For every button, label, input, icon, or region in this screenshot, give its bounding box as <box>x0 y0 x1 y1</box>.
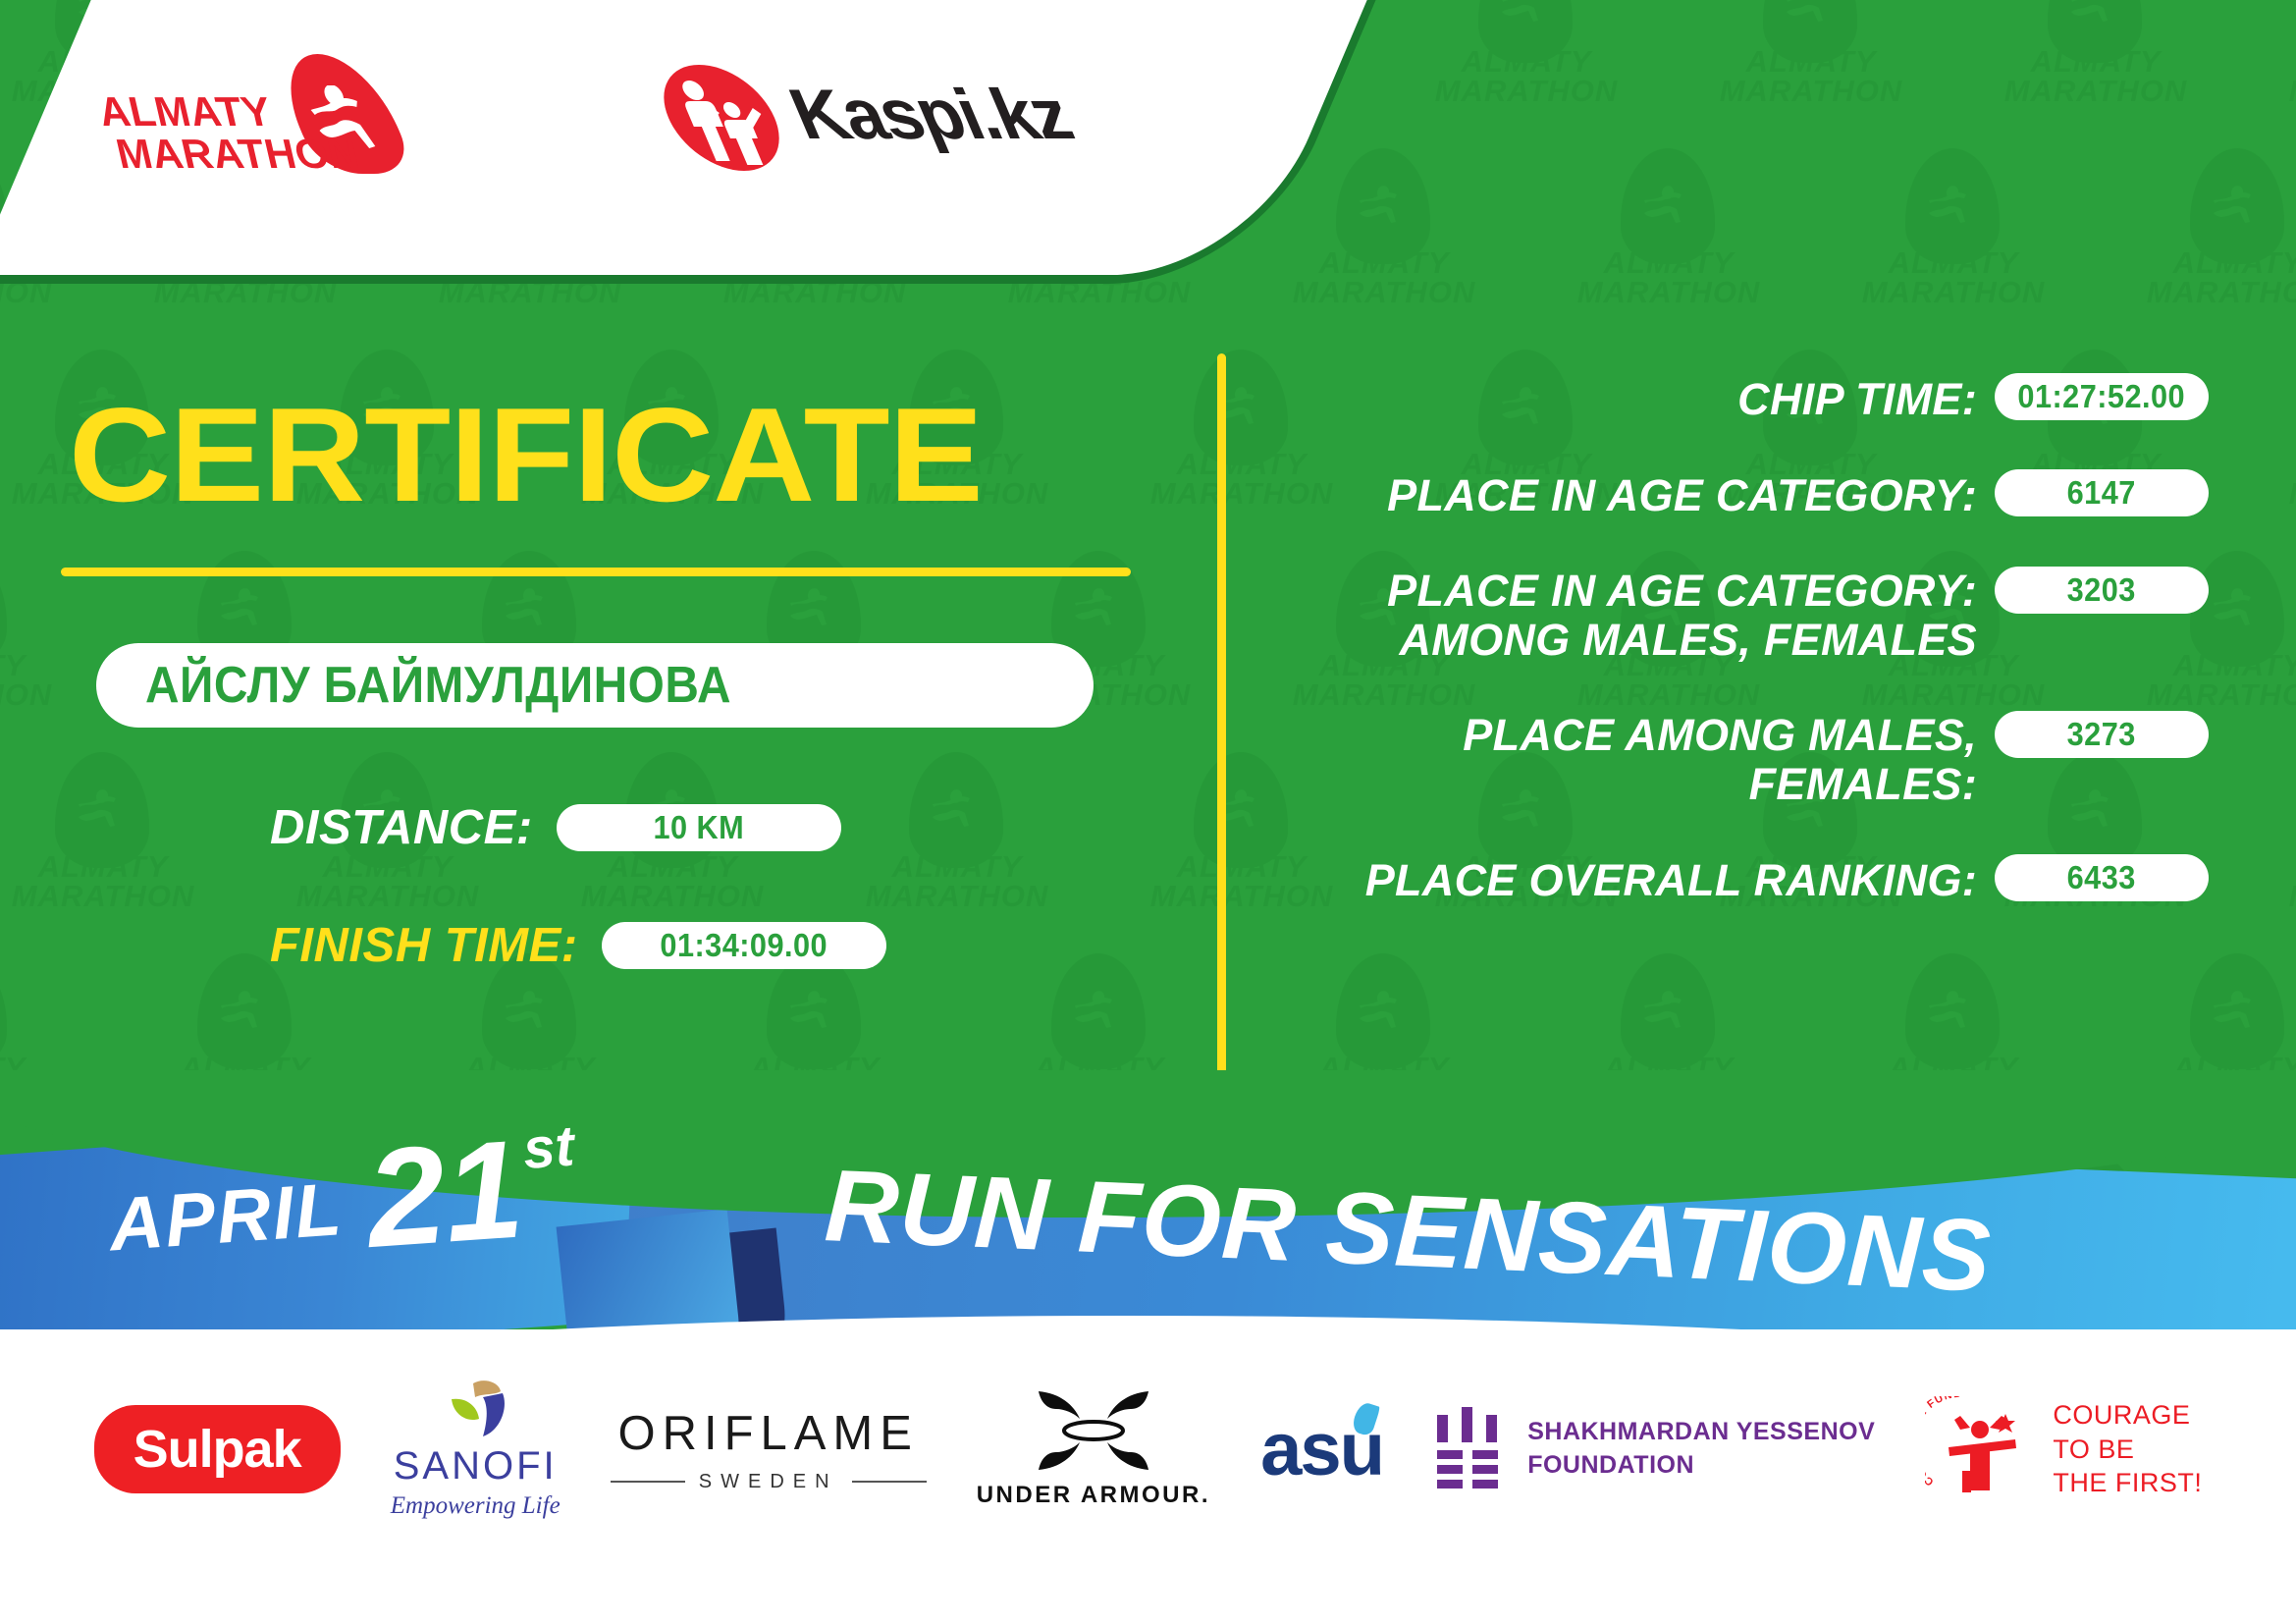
watermark-runner-icon <box>1785 0 1838 24</box>
result-label: PLACE AMONG MALES, FEMALES: <box>1276 711 1995 810</box>
svg-text:CORPORATE FUND: CORPORATE FUND <box>1925 1396 1963 1488</box>
watermark-text: ALMATYMARATHON <box>1384 47 1669 106</box>
kaspi-logo: Kaspi.kz <box>625 57 1125 194</box>
athlete-name-field: АЙСЛУ БАЙМУЛДИНОВА <box>96 643 1094 728</box>
watermark-drop-icon <box>2190 148 2284 264</box>
watermark-runner-icon <box>788 588 841 627</box>
sponsor-under-armour: UNDER ARMOUR. <box>977 1389 1210 1509</box>
finish-time-value: 01:34:09.00 <box>660 927 828 964</box>
result-row-place-among-gender: PLACE AMONG MALES, FEMALES: 3273 <box>1276 711 2209 810</box>
finish-time-value-pill: 01:34:09.00 <box>602 922 886 969</box>
watermark-runner-icon <box>1927 186 1980 225</box>
result-row-place-age-category: PLACE IN AGE CATEGORY: 6147 <box>1276 469 2209 520</box>
watermark-text: ALMATYMARATHON <box>0 852 245 911</box>
oriflame-rule-left <box>611 1481 685 1483</box>
yessenov-mark-icon <box>1433 1407 1502 1491</box>
courage-line2: TO BE <box>2053 1433 2202 1467</box>
watermark-drop-icon <box>1194 350 1288 465</box>
watermark-text: ALMATYMARATHON <box>2238 450 2296 509</box>
result-label: CHIP TIME: <box>1276 373 1995 424</box>
result-value: 3273 <box>2067 716 2136 753</box>
watermark-drop-icon <box>1905 148 2000 264</box>
watermark-text: ALMATYMARATHON <box>245 852 530 911</box>
oriflame-wordmark: ORIFLAME <box>617 1406 918 1461</box>
courage-wordmark: COURAGE TO BE THE FIRST! <box>2053 1398 2202 1500</box>
athlete-name: АЙСЛУ БАЙМУЛДИНОВА <box>145 656 731 715</box>
yessenov-line2: FOUNDATION <box>1527 1449 1875 1483</box>
watermark-tile: ALMATYMARATHON <box>1811 142 2096 344</box>
watermark-text: ALMATYMARATHON <box>1526 248 1811 307</box>
kaspi-people-icon <box>660 75 786 165</box>
result-label: PLACE OVERALL RANKING: <box>1276 854 1995 905</box>
under-armour-mark-icon <box>1031 1389 1156 1472</box>
result-row-overall-ranking: PLACE OVERALL RANKING: 6433 <box>1276 854 2209 905</box>
watermark-drop-icon <box>1051 953 1146 1069</box>
watermark-drop-icon <box>0 551 7 667</box>
watermark-runner-icon <box>504 991 557 1030</box>
watermark-drop-icon <box>1763 0 1857 63</box>
watermark-text: ALMATYMARATHON <box>1811 248 2096 307</box>
watermark-runner-icon <box>931 789 984 829</box>
watermark-tile: ALMATYMARATHON <box>1384 0 1669 142</box>
watermark-runner-icon <box>1073 991 1126 1030</box>
courage-arc-icon: CORPORATE FUND <box>1925 1396 2031 1502</box>
result-value-pill: 01:27:52.00 <box>1995 373 2209 420</box>
watermark-runner-icon <box>1073 588 1126 627</box>
result-value-pill: 3203 <box>1995 567 2209 614</box>
watermark-drop-icon <box>0 953 7 1069</box>
result-value-pill: 6147 <box>1995 469 2209 516</box>
distance-value-pill: 10 KM <box>557 804 841 851</box>
watermark-text: ALMATYMARATHON <box>1953 47 2238 106</box>
under-armour-wordmark: UNDER ARMOUR. <box>977 1482 1210 1509</box>
event-day-ordinal: st <box>521 1113 576 1182</box>
watermark-drop-icon <box>2190 953 2284 1069</box>
watermark-drop-icon <box>1621 148 1715 264</box>
watermark-text: ALMATYMARATHON <box>1669 47 1953 106</box>
yessenov-line1: SHAKHMARDAN YESSENOV <box>1527 1416 1875 1449</box>
oriflame-country: SWEDEN <box>699 1471 838 1493</box>
watermark-text: ALMATYMARATHON <box>2096 248 2296 307</box>
sulpak-logo: Sulpak <box>94 1405 341 1493</box>
watermark-runner-icon <box>2212 991 2265 1030</box>
sanofi-tagline: Empowering Life <box>391 1492 561 1520</box>
watermark-drop-icon <box>2048 0 2142 63</box>
marathon-line: MARATHON <box>108 134 322 176</box>
sponsor-sanofi: SANOFI Empowering Life <box>391 1380 561 1520</box>
watermark-runner-icon <box>1358 991 1411 1030</box>
result-value-pill: 6433 <box>1995 854 2209 901</box>
watermark-tile: ALMATYMARATHON <box>2238 746 2296 947</box>
sponsor-oriflame: ORIFLAME SWEDEN <box>611 1406 927 1493</box>
watermark-runner-icon <box>1642 186 1695 225</box>
courage-line1: COURAGE <box>2053 1398 2202 1433</box>
watermark-tile: ALMATYMARATHON <box>0 746 245 947</box>
watermark-runner-icon <box>1927 991 1980 1030</box>
result-value-pill: 3273 <box>1995 711 2209 758</box>
result-label: PLACE IN AGE CATEGORY: <box>1276 469 1995 520</box>
distance-row: DISTANCE: 10 KM <box>270 800 841 855</box>
watermark-tile: ALMATYMARATHON <box>2096 142 2296 344</box>
almaty-line: ALMATY <box>90 91 304 134</box>
sulpak-wordmark: Sulpak <box>133 1420 301 1479</box>
watermark-runner-icon <box>2069 0 2122 24</box>
sponsor-yessenov-foundation: SHAKHMARDAN YESSENOV FOUNDATION <box>1433 1407 1875 1491</box>
result-label: PLACE IN AGE CATEGORY: AMONG MALES, FEMA… <box>1276 567 1995 666</box>
column-divider <box>1217 353 1226 1090</box>
finish-time-row: FINISH TIME: 01:34:09.00 <box>270 918 886 973</box>
finish-time-label: FINISH TIME: <box>270 918 578 973</box>
sanofi-mark-icon <box>440 1380 510 1440</box>
result-label-line1: PLACE AMONG MALES, <box>1276 711 1977 760</box>
watermark-runner-icon <box>219 588 272 627</box>
header-logos: ALMATY MARATHON Kaspi.kz <box>0 0 1277 275</box>
result-label-line2: FEMALES: <box>1276 760 1977 809</box>
almaty-marathon-wordmark: ALMATY MARATHON <box>90 91 322 176</box>
watermark-text: ALMATYMARATHON <box>0 651 103 710</box>
watermark-tile: ALMATYMARATHON <box>2238 344 2296 545</box>
watermark-tile: ALMATYMARATHON <box>1669 0 1953 142</box>
watermark-drop-icon <box>55 752 149 868</box>
result-label-line2: AMONG MALES, FEMALES <box>1276 616 1977 665</box>
watermark-tile: ALMATYMARATHON <box>1526 142 1811 344</box>
event-month: APRIL <box>107 1166 346 1268</box>
watermark-runner-icon <box>504 588 557 627</box>
watermark-drop-icon <box>1194 752 1288 868</box>
sponsor-sulpak: Sulpak <box>94 1405 341 1493</box>
watermark-runner-icon <box>77 789 130 829</box>
oriflame-rule-right <box>852 1481 927 1483</box>
watermark-drop-icon <box>1336 148 1430 264</box>
sanofi-wordmark: SANOFI <box>394 1444 558 1489</box>
watermark-runner-icon <box>2212 588 2265 627</box>
sponsor-footer: Sulpak SANOFI Empowering Life ORIFLAME S… <box>0 1329 2296 1624</box>
result-label-line1: PLACE IN AGE CATEGORY: <box>1276 567 1977 616</box>
watermark-text: ALMATYMARATHON <box>530 852 815 911</box>
watermark-runner-icon <box>219 991 272 1030</box>
certificate-page: ALMATYMARATHONALMATYMARATHONALMATYMARATH… <box>0 0 2296 1624</box>
watermark-drop-icon <box>1905 953 2000 1069</box>
watermark-tile: ALMATYMARATHON <box>2238 0 2296 142</box>
sponsor-list: Sulpak SANOFI Empowering Life ORIFLAME S… <box>0 1351 2296 1547</box>
watermark-drop-icon <box>909 752 1003 868</box>
result-value: 01:27:52.00 <box>2018 378 2186 415</box>
courage-line3: THE FIRST! <box>2053 1466 2202 1500</box>
oriflame-sub: SWEDEN <box>611 1471 927 1493</box>
watermark-runner-icon <box>1358 186 1411 225</box>
result-value: 3203 <box>2067 571 2136 609</box>
result-value: 6147 <box>2067 474 2136 512</box>
watermark-drop-icon <box>1336 953 1430 1069</box>
results-list: CHIP TIME: 01:27:52.00 PLACE IN AGE CATE… <box>1276 373 2209 951</box>
watermark-drop-icon <box>1621 953 1715 1069</box>
sponsor-courage-fund: CORPORATE FUND COURAGE TO BE THE FIRS <box>1925 1396 2202 1502</box>
kaspi-wordmark: Kaspi.kz <box>777 75 1083 155</box>
courage-mark-icon: CORPORATE FUND <box>1925 1396 2031 1502</box>
result-row-place-age-category-gender: PLACE IN AGE CATEGORY: AMONG MALES, FEMA… <box>1276 567 2209 666</box>
watermark-runner-icon <box>1500 0 1553 24</box>
watermark-text: ALMATYMARATHON <box>2238 852 2296 911</box>
watermark-runner-icon <box>788 991 841 1030</box>
almaty-marathon-logo: ALMATY MARATHON <box>74 54 446 191</box>
watermark-drop-icon <box>1478 0 1573 63</box>
distance-value: 10 KM <box>653 809 744 846</box>
page-title: CERTIFICATE <box>69 378 983 531</box>
watermark-runner-icon <box>1642 991 1695 1030</box>
watermark-text: ALMATYMARATHON <box>815 852 1099 911</box>
watermark-tile: ALMATYMARATHON <box>1953 0 2238 142</box>
watermark-text: ALMATYMARATHON <box>2238 47 2296 106</box>
yessenov-wordmark: SHAKHMARDAN YESSENOV FOUNDATION <box>1527 1416 1875 1483</box>
result-value: 6433 <box>2067 859 2136 896</box>
title-underline <box>61 568 1131 576</box>
distance-label: DISTANCE: <box>270 800 533 855</box>
result-row-chip-time: CHIP TIME: 01:27:52.00 <box>1276 373 2209 424</box>
event-day: 21 <box>363 1130 526 1258</box>
watermark-runner-icon <box>2212 186 2265 225</box>
header-content: ALMATY MARATHON Kaspi.kz <box>0 0 1343 314</box>
sponsor-asu: asu <box>1260 1407 1383 1492</box>
